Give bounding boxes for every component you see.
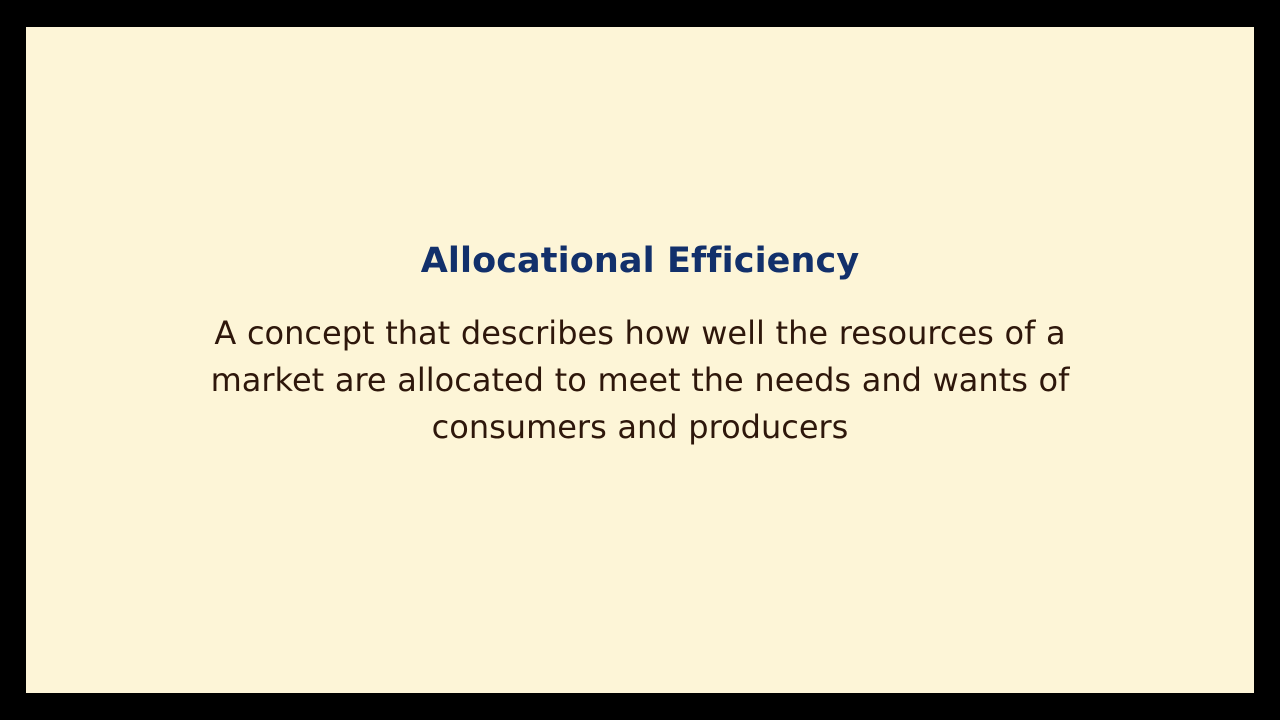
slide-frame: Allocational Efficiency A concept that d… (0, 0, 1280, 720)
slide-content-panel: Allocational Efficiency A concept that d… (26, 27, 1254, 693)
definition-card: Allocational Efficiency A concept that d… (160, 241, 1120, 450)
term-definition: A concept that describes how well the re… (180, 310, 1100, 451)
term-title: Allocational Efficiency (160, 241, 1120, 281)
